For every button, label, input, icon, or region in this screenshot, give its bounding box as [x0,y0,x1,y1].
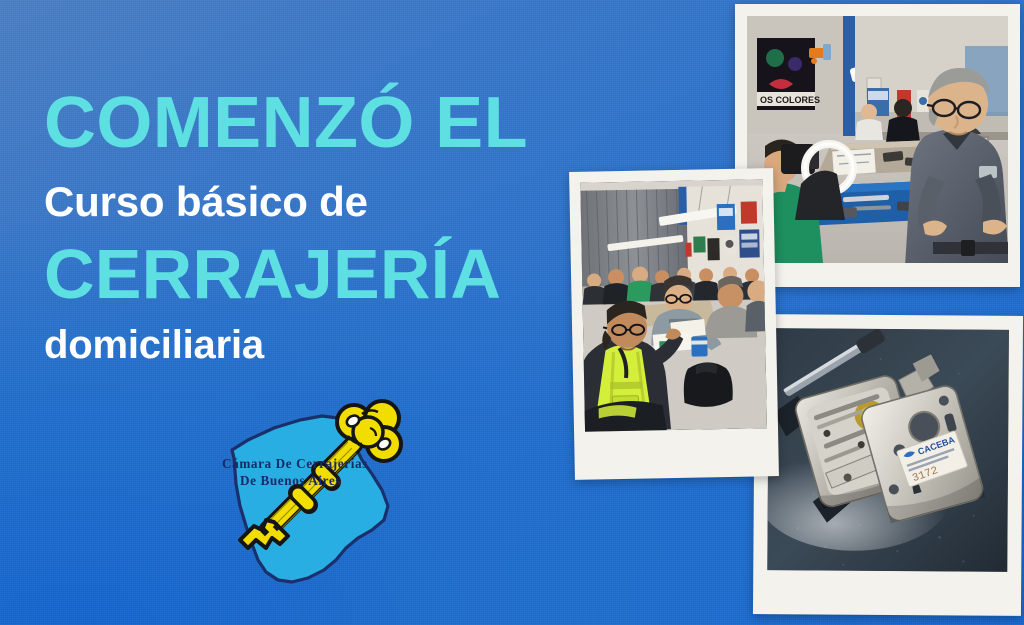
photo-lock: CACEBA 3172 [753,314,1023,616]
photo-lock-image: CACEBA 3172 [767,328,1009,572]
headline-line-4: domiciliaria [44,325,604,365]
photo-workshop-image: OS COLORES [747,16,1008,263]
headline-line-3: CERRAJERÍA [44,239,604,309]
headline-block: COMENZÓ EL Curso básico de CERRAJERÍA do… [44,88,604,365]
headline-line-1: COMENZÓ EL [44,88,604,159]
photo-workshop: OS COLORES [735,4,1020,287]
logo-text-line-1: Cámara De Cerrajerías [222,456,368,471]
logo-text-line-2: De Buenos Aires [240,473,341,488]
poster-canvas: COMENZÓ EL Curso básico de CERRAJERÍA do… [0,0,1024,625]
photo-classroom-image [580,179,767,431]
caceba-logo: Cámara De Cerrajerías De Buenos Aires [196,398,422,598]
headline-line-2: Curso básico de [44,181,604,223]
svg-text:OS COLORES: OS COLORES [760,95,820,105]
